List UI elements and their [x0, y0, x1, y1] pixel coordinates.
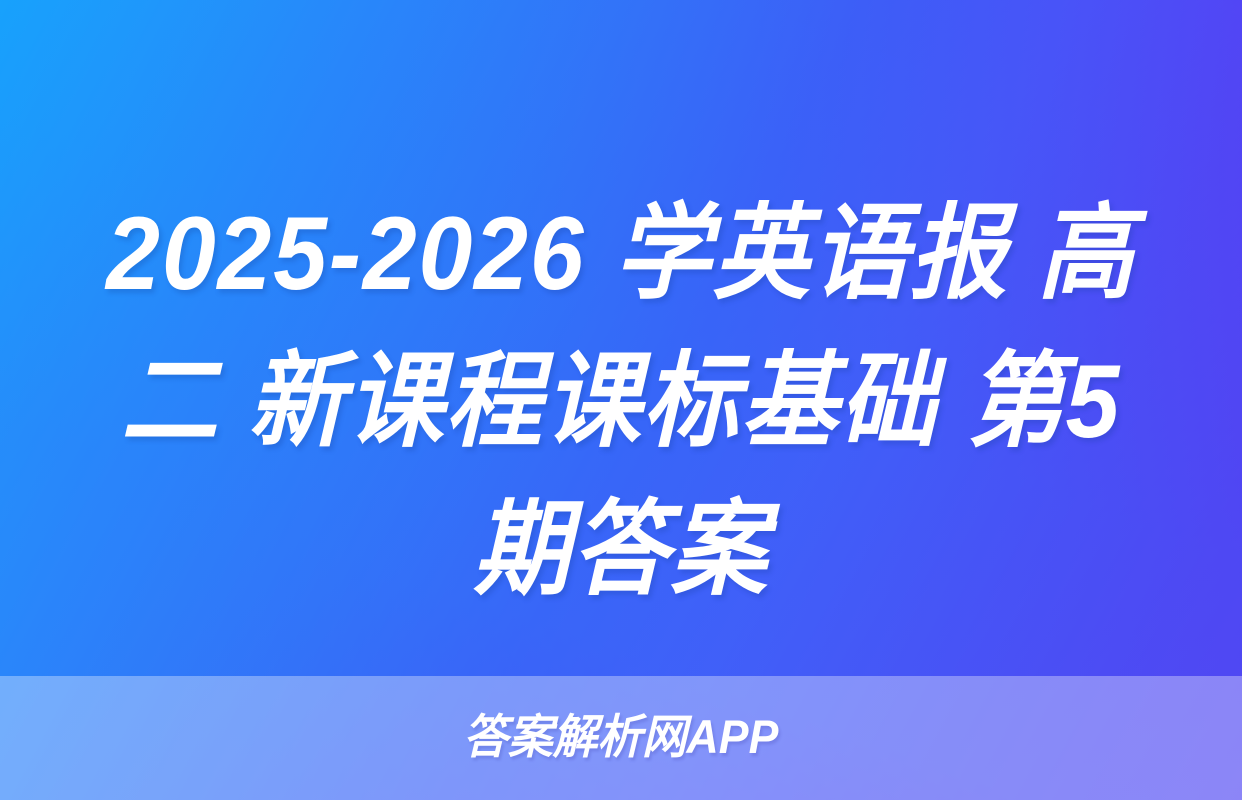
banner-title: 2025-2026 学英语报 高 二 新课程课标基础 第5 期答案 [0, 180, 1242, 624]
promo-banner: 2025-2026 学英语报 高 二 新课程课标基础 第5 期答案 答案解析网A… [0, 0, 1242, 800]
title-line-1: 2025-2026 学英语报 高 [43, 180, 1198, 328]
title-line-3: 期答案 [43, 476, 1198, 624]
app-brand-label: 答案解析网APP [463, 713, 778, 760]
footer-band: 答案解析网APP [0, 676, 1242, 800]
title-line-2: 二 新课程课标基础 第5 [43, 328, 1198, 476]
